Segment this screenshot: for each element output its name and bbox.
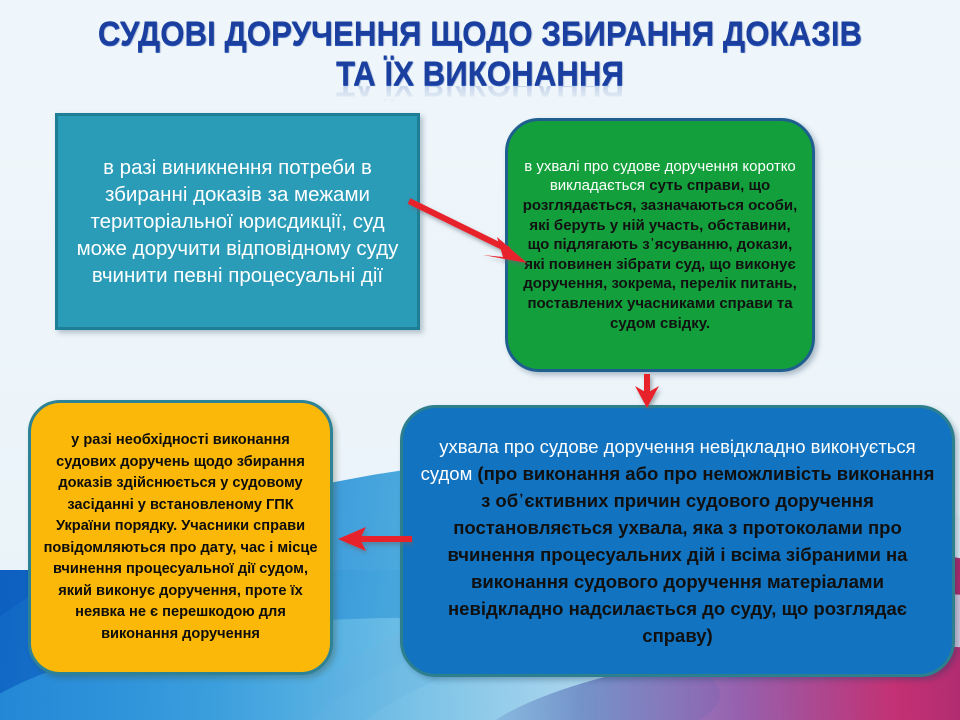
callout-box-green-text: в ухвалі про судове доручення коротко ви…: [508, 151, 812, 339]
callout-box-blue-text: ухвала про судове доручення невідкладно …: [403, 429, 952, 653]
callout-box-teal-text: в разі виникнення потреби в збиранні док…: [58, 150, 417, 293]
page-title: СУДОВІ ДОРУЧЕННЯ ЩОДО ЗБИРАННЯ ДОКАЗІВ Т…: [0, 14, 960, 104]
callout-box-green[interactable]: в ухвалі про судове доручення коротко ви…: [505, 118, 815, 372]
arrow-green-to-blue-icon: [628, 372, 666, 410]
title-reflection: ТА ЇХ ВИКОНАННЯ: [38, 86, 921, 104]
title-reflection-text: ТА ЇХ ВИКОНАННЯ: [38, 86, 921, 104]
callout-box-teal[interactable]: в разі виникнення потреби в збиранні док…: [55, 113, 420, 330]
arrow-teal-to-green-icon: [405, 195, 535, 270]
callout-box-blue[interactable]: ухвала про судове доручення невідкладно …: [400, 405, 955, 677]
callout-box-orange[interactable]: у разі необхідності виконання судових до…: [28, 400, 333, 675]
callout-box-orange-text: у разі необхідності виконання судових до…: [31, 426, 330, 649]
title-line-1: СУДОВІ ДОРУЧЕННЯ ЩОДО ЗБИРАННЯ ДОКАЗІВ: [38, 14, 921, 54]
callout-box-blue-text-bold: (про виконання або про неможливість вико…: [448, 463, 935, 646]
callout-box-green-text-bold: суть справи, що розглядається, зазначают…: [523, 177, 798, 331]
arrow-blue-to-orange-icon: [336, 522, 414, 556]
